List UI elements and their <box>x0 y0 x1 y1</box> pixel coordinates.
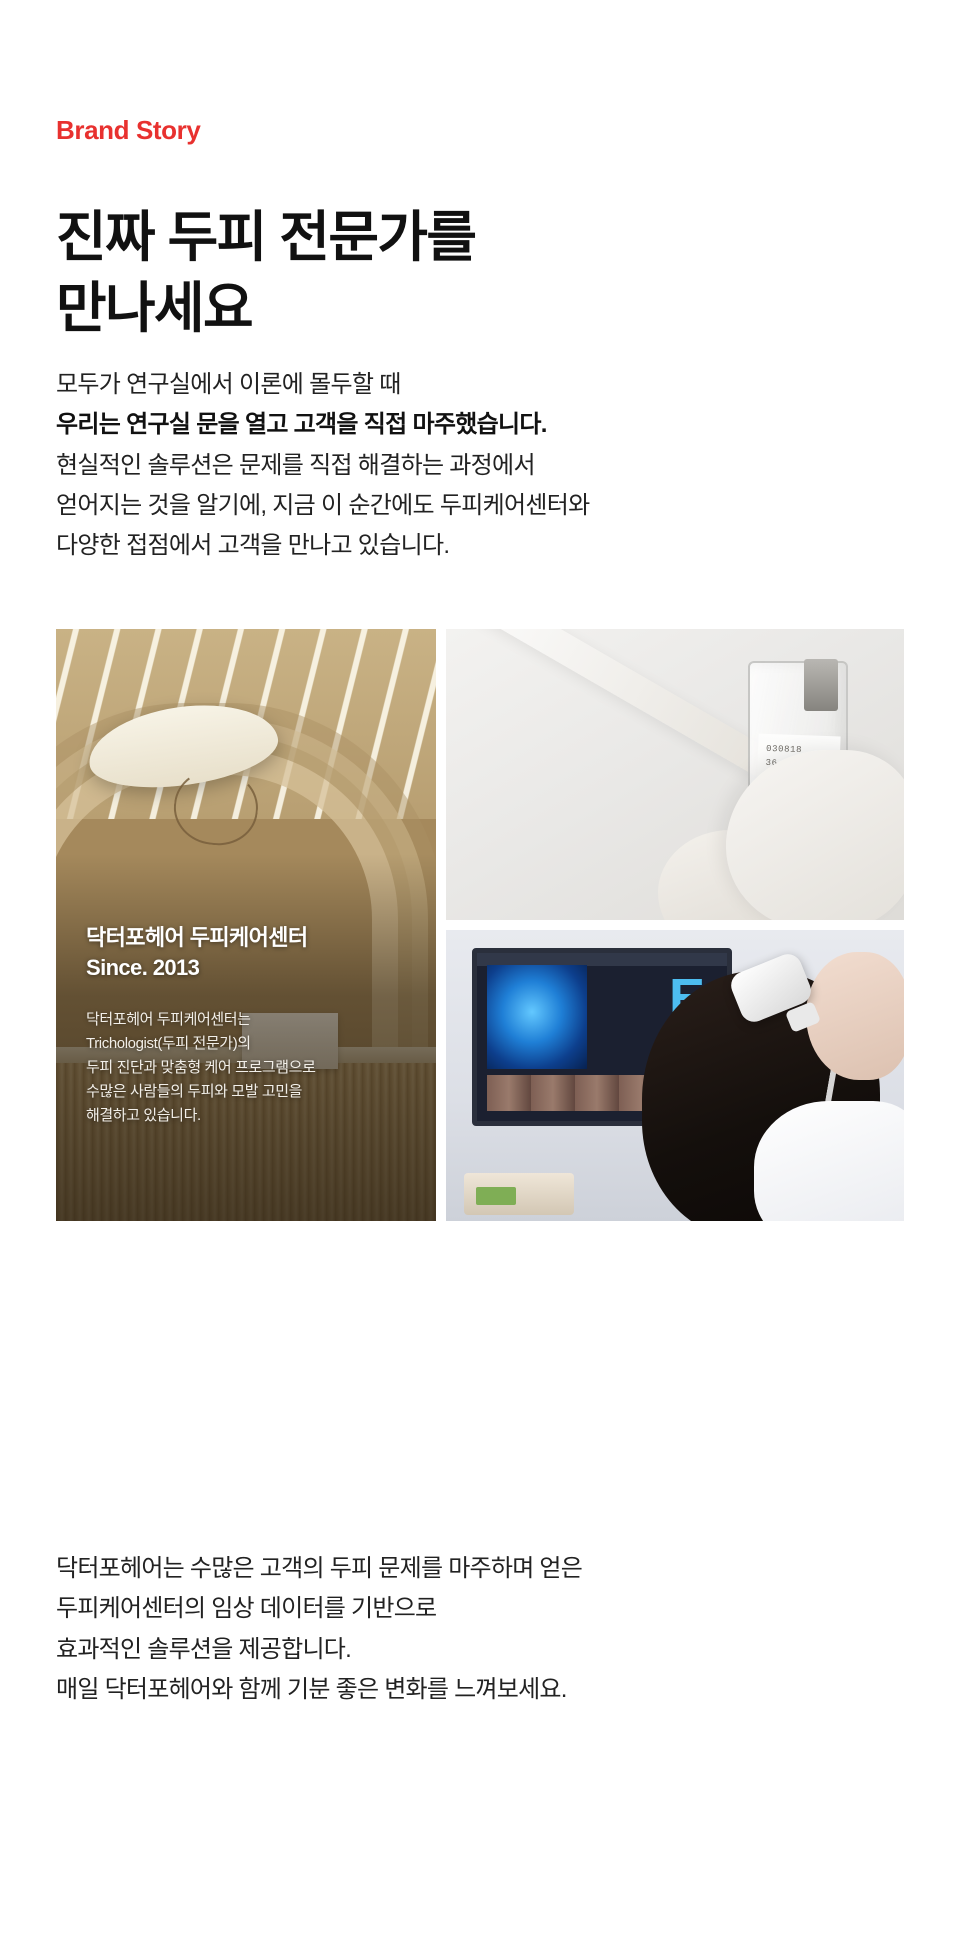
overlay-body-line-3: 두피 진단과 맞춤형 케어 프로그램으로 <box>86 1056 414 1080</box>
intro-paragraph: 모두가 연구실에서 이론에 몰두할 때 우리는 연구실 문을 열고 고객을 직접… <box>56 365 876 567</box>
photo-care-center-reception: 닥터포헤어 두피케어센터 Since. 2013 닥터포헤어 두피케어센터는 T… <box>56 629 436 1221</box>
closing-line-4: 매일 닥터포헤어와 함께 기분 좋은 변화를 느껴보세요. <box>56 1670 886 1710</box>
intro-line-2-emphasis: 우리는 연구실 문을 열고 고객을 직접 마주했습니다. <box>56 405 876 445</box>
photo-scalp-diagnosis: E <box>446 930 904 1221</box>
scalp-scan-image-graphic <box>487 965 587 1069</box>
photo-lab-rna-check: 030818 36 3856 RNA CHECK <box>446 629 904 920</box>
closing-line-3: 효과적인 솔루션을 제공합니다. <box>56 1630 886 1670</box>
overlay-body-line-2: Trichologist(두피 전문가)의 <box>86 1032 414 1056</box>
overlay-body-line-4: 수많은 사람들의 두피와 모발 고민을 <box>86 1080 414 1104</box>
closing-line-1: 닥터포헤어는 수많은 고객의 두피 문제를 마주하며 얻은 <box>56 1549 886 1589</box>
photo-gallery: 닥터포헤어 두피케어센터 Since. 2013 닥터포헤어 두피케어센터는 T… <box>56 629 904 1221</box>
intro-line-3: 현실적인 솔루션은 문제를 직접 해결하는 과정에서 <box>56 446 876 486</box>
headline-line-1: 진짜 두피 전문가를 <box>56 202 856 274</box>
tray-item-graphic <box>476 1187 516 1205</box>
overlay-body-line-5: 해결하고 있습니다. <box>86 1104 414 1128</box>
page-title: 진짜 두피 전문가를 만나세요 <box>56 202 856 345</box>
headline-line-2: 만나세요 <box>56 273 856 345</box>
tube-cap-graphic <box>804 659 838 711</box>
lab-coat-graphic <box>754 1101 904 1221</box>
intro-line-4: 얻어지는 것을 알기에, 지금 이 순간에도 두피케어센터와 <box>56 486 876 526</box>
therapist-hand-graphic <box>806 952 904 1080</box>
overlay-title: 닥터포헤어 두피케어센터 Since. 2013 <box>86 923 414 984</box>
intro-line-1: 모두가 연구실에서 이론에 몰두할 때 <box>56 365 876 405</box>
closing-line-2: 두피케어센터의 임상 데이터를 기반으로 <box>56 1589 886 1629</box>
overlay-title-line-1: 닥터포헤어 두피케어센터 <box>86 923 414 953</box>
overlay-title-line-2: Since. 2013 <box>86 953 414 983</box>
brand-story-page: Brand Story 진짜 두피 전문가를 만나세요 모두가 연구실에서 이론… <box>0 0 960 1947</box>
overlay-body-line-1: 닥터포헤어 두피케어센터는 <box>86 1008 414 1032</box>
overlay-body: 닥터포헤어 두피케어센터는 Trichologist(두피 전문가)의 두피 진… <box>86 1008 414 1128</box>
intro-line-5: 다양한 접점에서 고객을 만나고 있습니다. <box>56 526 876 566</box>
photo-overlay-caption: 닥터포헤어 두피케어센터 Since. 2013 닥터포헤어 두피케어센터는 T… <box>86 923 414 1128</box>
section-eyebrow: Brand Story <box>56 117 200 143</box>
closing-paragraph: 닥터포헤어는 수많은 고객의 두피 문제를 마주하며 얻은 두피케어센터의 임상… <box>56 1549 886 1710</box>
